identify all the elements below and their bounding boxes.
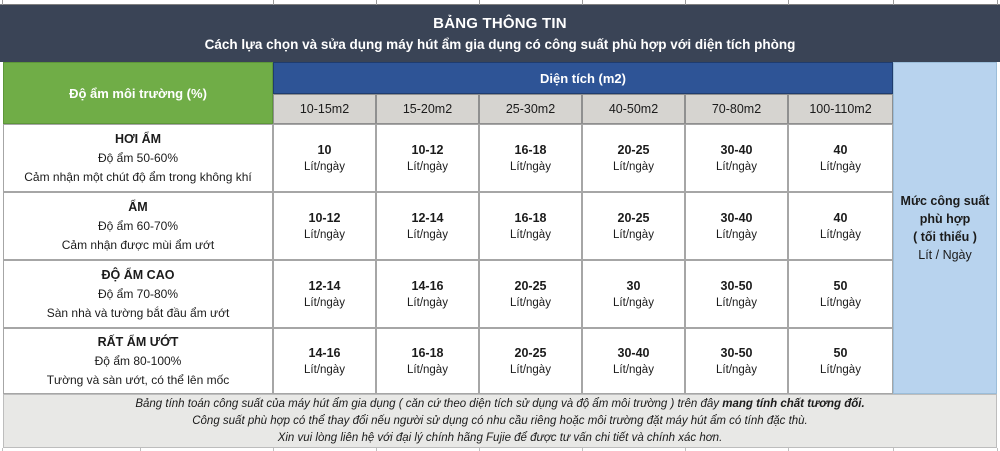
column-header-5: 100-110m2 <box>788 94 893 124</box>
table-row-label-3: RẤT ẨM ƯỚT Độ ẩm 80-100% Tường và sàn ướ… <box>3 328 273 394</box>
title-banner: BẢNG THÔNG TIN Cách lựa chọn và sửa dụng… <box>0 5 1000 62</box>
table-cell-3-3: 30-40 Lít/ngày <box>582 328 685 394</box>
cell-value: 30-40 <box>721 209 753 227</box>
footnote-line-1-text: Bảng tính toán công suất của máy hút ẩm … <box>135 398 722 410</box>
cell-value: 30-50 <box>721 344 753 362</box>
cell-value: 30 <box>627 277 641 295</box>
cell-unit: Lít/ngày <box>716 227 757 244</box>
cell-unit: Lít/ngày <box>613 295 654 312</box>
cell-value: 12-14 <box>309 277 341 295</box>
footnote-block: Bảng tính toán công suất của máy hút ẩm … <box>3 394 997 448</box>
cell-unit: Lít/ngày <box>510 362 551 379</box>
cell-value: 50 <box>834 277 848 295</box>
table-cell-0-5: 40 Lít/ngày <box>788 124 893 192</box>
column-header-2: 25-30m2 <box>479 94 582 124</box>
table-cell-0-2: 16-18 Lít/ngày <box>479 124 582 192</box>
cell-unit: Lít/ngày <box>613 362 654 379</box>
row-title-1: ẨM <box>128 198 147 217</box>
table-cell-3-4: 30-50 Lít/ngày <box>685 328 788 394</box>
cell-unit: Lít/ngày <box>407 295 448 312</box>
spreadsheet-canvas: BẢNG THÔNG TIN Cách lựa chọn và sửa dụng… <box>0 0 1000 451</box>
table-cell-0-3: 20-25 Lít/ngày <box>582 124 685 192</box>
table-cell-2-0: 12-14 Lít/ngày <box>273 260 376 328</box>
cell-value: 20-25 <box>618 141 650 159</box>
cell-value: 40 <box>834 209 848 227</box>
row-description-3: Tường và sàn ướt, có thể lên mốc <box>47 371 230 390</box>
cell-value: 10 <box>318 141 332 159</box>
cell-value: 14-16 <box>309 344 341 362</box>
cell-unit: Lít/ngày <box>820 159 861 176</box>
cell-unit: Lít/ngày <box>820 227 861 244</box>
row-description-1: Cảm nhận được mùi ẩm ướt <box>62 236 215 255</box>
cell-value: 12-14 <box>412 209 444 227</box>
footnote-line-1-emphasis: mang tính chất tương đối. <box>722 398 864 410</box>
cell-unit: Lít/ngày <box>613 227 654 244</box>
capacity-side-panel: Mức công suất phù hợp ( tối thiểu ) Lít … <box>893 62 997 394</box>
row-header-title: Độ ẩm môi trường (%) <box>3 62 273 124</box>
cell-unit: Lít/ngày <box>716 295 757 312</box>
cell-value: 20-25 <box>618 209 650 227</box>
cell-value: 16-18 <box>515 209 547 227</box>
side-panel-line-1: Mức công suất <box>901 192 990 210</box>
table-cell-0-1: 10-12 Lít/ngày <box>376 124 479 192</box>
cell-unit: Lít/ngày <box>407 227 448 244</box>
row-humidity-2: Độ ẩm 70-80% <box>98 285 178 304</box>
table-cell-3-5: 50 Lít/ngày <box>788 328 893 394</box>
column-header-4: 70-80m2 <box>685 94 788 124</box>
row-humidity-3: Độ ẩm 80-100% <box>95 352 182 371</box>
page-title: BẢNG THÔNG TIN <box>433 14 567 33</box>
cell-value: 14-16 <box>412 277 444 295</box>
row-humidity-0: Độ ẩm 50-60% <box>98 149 178 168</box>
column-group-header: Diện tích (m2) <box>273 62 893 94</box>
cell-value: 40 <box>834 141 848 159</box>
footnote-line-1: Bảng tính toán công suất của máy hút ẩm … <box>135 396 864 413</box>
table-row-label-2: ĐỘ ẨM CAO Độ ẩm 70-80% Sàn nhà và tường … <box>3 260 273 328</box>
row-description-0: Cảm nhận một chút độ ẩm trong không khí <box>24 168 251 187</box>
table-cell-0-0: 10 Lít/ngày <box>273 124 376 192</box>
row-title-3: RẤT ẨM ƯỚT <box>98 333 179 352</box>
side-panel-line-2: phù hợp <box>920 210 971 228</box>
table-cell-1-2: 16-18 Lít/ngày <box>479 192 582 260</box>
page-subtitle: Cách lựa chọn và sửa dụng máy hút ẩm gia… <box>205 35 796 54</box>
footnote-line-3: Xin vui lòng liên hệ với đại lý chính hã… <box>278 430 723 447</box>
table-cell-1-4: 30-40 Lít/ngày <box>685 192 788 260</box>
table-cell-2-3: 30 Lít/ngày <box>582 260 685 328</box>
side-panel-line-4: Lít / Ngày <box>918 246 972 265</box>
row-description-2: Sàn nhà và tường bắt đầu ẩm ướt <box>47 304 230 323</box>
cell-unit: Lít/ngày <box>820 295 861 312</box>
cell-value: 16-18 <box>515 141 547 159</box>
cell-unit: Lít/ngày <box>304 295 345 312</box>
column-header-1: 15-20m2 <box>376 94 479 124</box>
cell-value: 10-12 <box>309 209 341 227</box>
table-cell-0-4: 30-40 Lít/ngày <box>685 124 788 192</box>
column-header-0: 10-15m2 <box>273 94 376 124</box>
table-cell-1-3: 20-25 Lít/ngày <box>582 192 685 260</box>
side-panel-line-3: ( tối thiểu ) <box>913 228 977 246</box>
cell-unit: Lít/ngày <box>510 295 551 312</box>
cell-unit: Lít/ngày <box>304 159 345 176</box>
cell-unit: Lít/ngày <box>820 362 861 379</box>
table-row-label-1: ẨM Độ ẩm 60-70% Cảm nhận được mùi ẩm ướt <box>3 192 273 260</box>
table-cell-2-4: 30-50 Lít/ngày <box>685 260 788 328</box>
table-cell-3-0: 14-16 Lít/ngày <box>273 328 376 394</box>
table-cell-3-2: 20-25 Lít/ngày <box>479 328 582 394</box>
footnote-line-2: Công suất phù hợp có thể thay đổi nếu ng… <box>192 413 808 430</box>
column-header-3: 40-50m2 <box>582 94 685 124</box>
cell-value: 20-25 <box>515 344 547 362</box>
cell-value: 10-12 <box>412 141 444 159</box>
cell-unit: Lít/ngày <box>407 362 448 379</box>
row-title-0: HƠI ẨM <box>115 130 161 149</box>
info-table: Độ ẩm môi trường (%) Diện tích (m2) 10-1… <box>0 62 1000 451</box>
cell-unit: Lít/ngày <box>613 159 654 176</box>
table-cell-1-5: 40 Lít/ngày <box>788 192 893 260</box>
cell-unit: Lít/ngày <box>304 362 345 379</box>
table-cell-3-1: 16-18 Lít/ngày <box>376 328 479 394</box>
table-cell-1-1: 12-14 Lít/ngày <box>376 192 479 260</box>
cell-value: 16-18 <box>412 344 444 362</box>
cell-unit: Lít/ngày <box>510 227 551 244</box>
cell-value: 30-40 <box>618 344 650 362</box>
cell-unit: Lít/ngày <box>716 362 757 379</box>
table-cell-2-2: 20-25 Lít/ngày <box>479 260 582 328</box>
row-title-2: ĐỘ ẨM CAO <box>102 266 175 285</box>
cell-value: 50 <box>834 344 848 362</box>
cell-value: 20-25 <box>515 277 547 295</box>
cell-unit: Lít/ngày <box>716 159 757 176</box>
row-humidity-1: Độ ẩm 60-70% <box>98 217 178 236</box>
cell-unit: Lít/ngày <box>510 159 551 176</box>
cell-unit: Lít/ngày <box>407 159 448 176</box>
table-row-label-0: HƠI ẨM Độ ẩm 50-60% Cảm nhận một chút độ… <box>3 124 273 192</box>
table-cell-2-5: 50 Lít/ngày <box>788 260 893 328</box>
table-cell-2-1: 14-16 Lít/ngày <box>376 260 479 328</box>
cell-unit: Lít/ngày <box>304 227 345 244</box>
cell-value: 30-40 <box>721 141 753 159</box>
cell-value: 30-50 <box>721 277 753 295</box>
table-cell-1-0: 10-12 Lít/ngày <box>273 192 376 260</box>
